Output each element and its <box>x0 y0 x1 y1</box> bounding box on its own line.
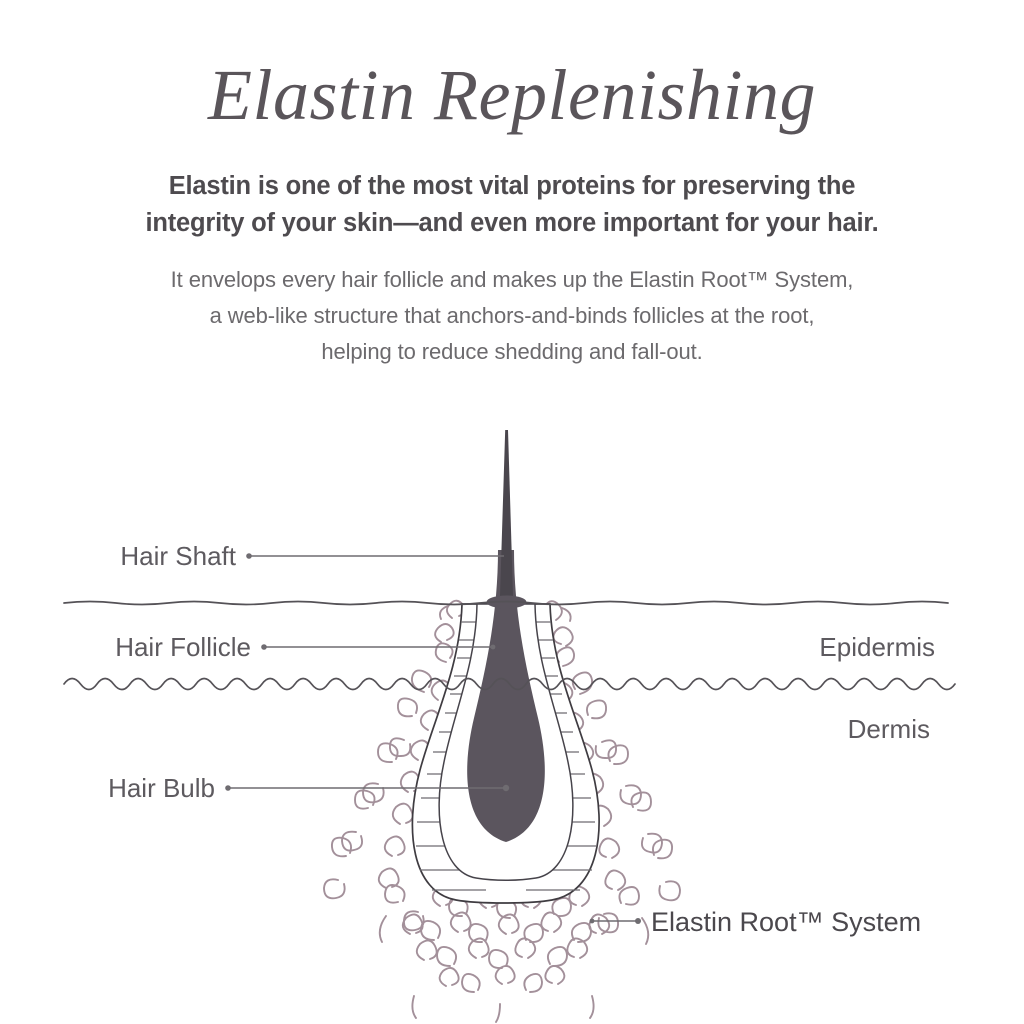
leader-end-elastin-root <box>590 919 595 924</box>
leader-dot-elastin-root <box>635 918 641 924</box>
intro-line-2: a web-like structure that anchors-and-bi… <box>95 298 929 334</box>
label-dermis: Dermis <box>848 714 930 744</box>
label-epidermis: Epidermis <box>819 632 935 662</box>
hair-follicle-illustration: Hair Shaft Hair Follicle Hair Bulb Epide… <box>0 400 1024 1024</box>
subheadline-line-1: Elastin is one of the most vital protein… <box>95 168 929 205</box>
label-hair-bulb: Hair Bulb <box>108 773 215 803</box>
leader-dot-hair-bulb <box>225 785 231 791</box>
subheadline: Elastin is one of the most vital protein… <box>95 168 929 242</box>
leader-end-hair-bulb <box>503 785 509 791</box>
label-hair-shaft: Hair Shaft <box>120 541 236 571</box>
label-hair-follicle: Hair Follicle <box>115 632 251 662</box>
intro-line-3: helping to reduce shedding and fall-out. <box>95 334 929 370</box>
leader-end-hair-follicle <box>491 645 496 650</box>
page-title: Elastin Replenishing <box>0 58 1024 134</box>
leader-dot-hair-shaft <box>246 553 252 559</box>
label-elastin-root-system: Elastin Root™ System <box>651 907 921 937</box>
leader-dot-hair-follicle <box>261 644 267 650</box>
infographic-page: Elastin Replenishing Elastin is one of t… <box>0 0 1024 1024</box>
intro-paragraph: It envelops every hair follicle and make… <box>95 262 929 370</box>
hair-shaft <box>487 430 527 609</box>
intro-line-1: It envelops every hair follicle and make… <box>95 262 929 298</box>
subheadline-line-2: integrity of your skin—and even more imp… <box>95 205 929 242</box>
hair-follicle-diagram: Hair Shaft Hair Follicle Hair Bulb Epide… <box>0 400 1024 1024</box>
